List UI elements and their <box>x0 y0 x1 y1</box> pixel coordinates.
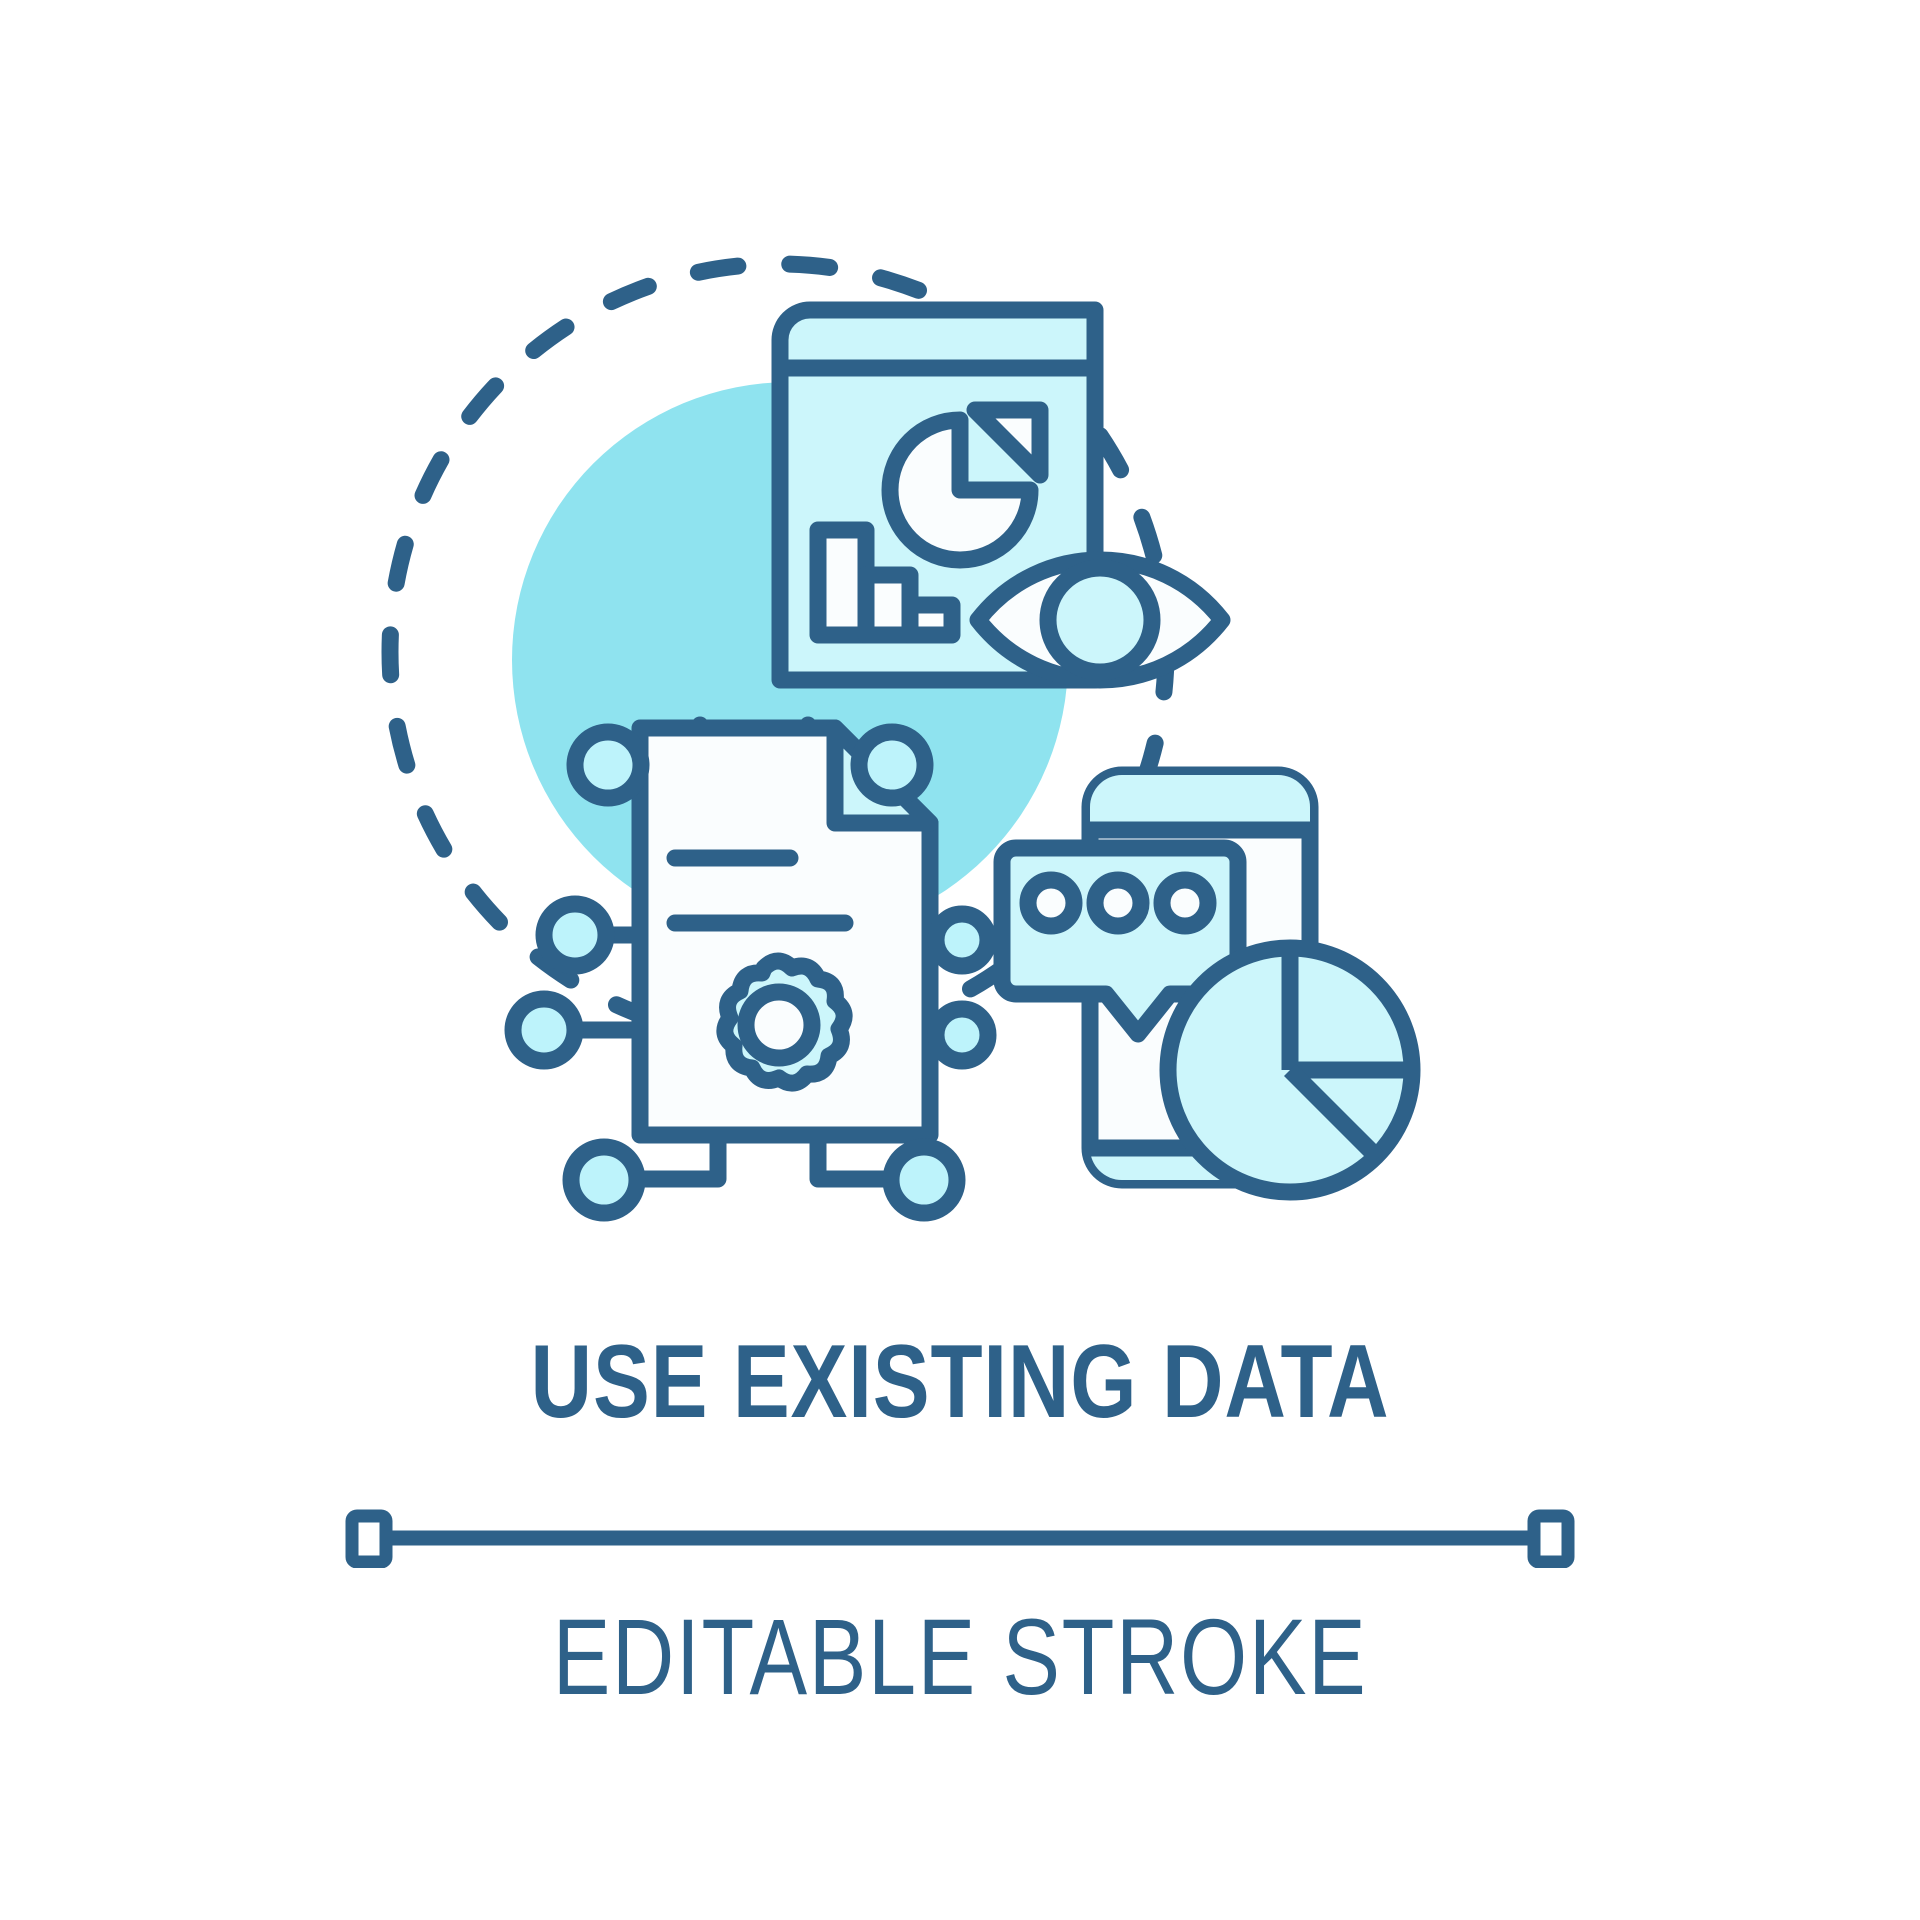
stroke-label: EDITABLE STROKE <box>192 1598 1728 1717</box>
gear-icon <box>725 961 844 1083</box>
eye-pupil <box>1048 568 1152 672</box>
node-bottom-left <box>571 1147 637 1213</box>
pie-chart-report <box>890 410 1040 560</box>
caption-block: USE EXISTING DATA <box>0 1330 1920 1434</box>
node-bottom-right <box>891 1147 957 1213</box>
node-top-left <box>575 732 641 798</box>
pie-chart-mobile <box>1168 948 1412 1192</box>
illustration-canvas <box>0 0 1920 1340</box>
node-mid-left <box>544 904 606 966</box>
node-top-right <box>859 732 925 798</box>
typing-dot-2 <box>1095 880 1141 926</box>
typing-dot-3 <box>1162 880 1208 926</box>
gear-center-hole <box>746 992 812 1058</box>
page-title: USE EXISTING DATA <box>173 1330 1747 1434</box>
node-lower-left <box>513 999 575 1061</box>
stroke-indicator-handle-left <box>352 1516 386 1562</box>
use-existing-data-icon <box>0 0 1920 1340</box>
node-lower-right <box>936 1009 988 1061</box>
typing-dot-1 <box>1028 880 1074 926</box>
editable-stroke-indicator <box>0 1508 1920 1568</box>
stroke-indicator-handle-right <box>1534 1516 1568 1562</box>
concept-icon-page: USE EXISTING DATA EDITABLE STROKE <box>0 0 1920 1920</box>
eye-visibility-icon <box>978 560 1222 680</box>
node-mid-right <box>936 914 988 966</box>
bar-3 <box>910 605 952 635</box>
